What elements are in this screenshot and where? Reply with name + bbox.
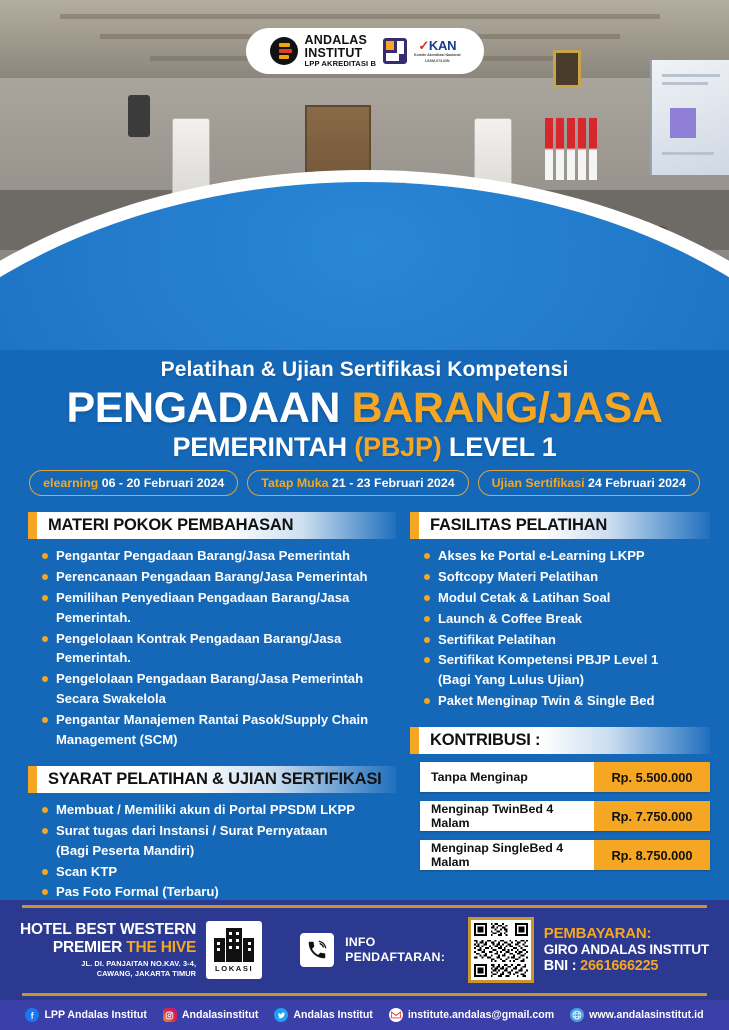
payment-block: PEMBAYARAN: GIRO ANDALAS INSTITUT BNI : … — [468, 917, 709, 983]
info-line-1: INFO — [345, 935, 445, 950]
left-column: MATERI POKOK PEMBAHASAN Pengantar Pengad… — [28, 512, 396, 903]
payment-account-number: 2661666225 — [580, 958, 658, 974]
price-table: Tanpa Menginap Rp. 5.500.000 Menginap Tw… — [410, 762, 710, 870]
materi-heading: MATERI POKOK PEMBAHASAN — [48, 516, 293, 535]
list-item: Sertifikat Kompetensi PBJP Level 1(Bagi … — [424, 650, 710, 690]
price-amount: Rp. 7.750.000 — [594, 801, 710, 831]
facebook-icon — [25, 1008, 39, 1022]
title-sub-before: PEMERINTAH — [172, 432, 347, 462]
hotel-name-line1: HOTEL BEST WESTERN — [20, 921, 196, 938]
projector-screen — [650, 60, 729, 175]
list-item: Pengantar Manajemen Rantai Pasok/Supply … — [42, 710, 396, 750]
list-item: Akses ke Portal e-Learning LKPP — [424, 546, 710, 566]
accent-bar — [28, 766, 37, 793]
speaker — [128, 95, 150, 137]
list-item: Scan KTP — [42, 862, 396, 882]
date-label: Ujian Sertifikasi — [492, 476, 585, 490]
social-website[interactable]: www.andalasinstitut.id — [570, 1008, 703, 1022]
social-label: Andalasinstitut — [182, 1009, 259, 1021]
date-badge-tatap-muka: Tatap Muka 21 - 23 Februari 2024 — [247, 470, 468, 496]
title-main-white: PENGADAAN — [66, 384, 340, 432]
instagram-icon — [163, 1008, 177, 1022]
list-item: Launch & Coffee Break — [424, 609, 710, 629]
footer: HOTEL BEST WESTERN PREMIER THE HIVE JL. … — [0, 900, 729, 1000]
info-line-2: PENDAFTARAN: — [345, 950, 445, 965]
list-item: Perencanaan Pengadaan Barang/Jasa Pemeri… — [42, 567, 396, 587]
title-eyebrow: Pelatihan & Ujian Sertifikasi Kompetensi — [0, 358, 729, 382]
date-badge-elearning: elearning 06 - 20 Februari 2024 — [29, 470, 238, 496]
venue-block: HOTEL BEST WESTERN PREMIER THE HIVE JL. … — [20, 921, 262, 979]
lokasi-caption: LOKASI — [215, 964, 253, 973]
price-label: Menginap SingleBed 4 Malam — [420, 840, 594, 870]
globe-icon — [570, 1008, 584, 1022]
table-row: Menginap SingleBed 4 Malam Rp. 8.750.000 — [420, 840, 710, 870]
accent-bar — [28, 512, 37, 539]
brand-accreditation: LPP AKREDITASI B — [305, 60, 377, 68]
info-registration-block: INFO PENDAFTARAN: — [300, 933, 445, 967]
list-item: Modul Cetak & Latihan Soal — [424, 588, 710, 608]
date-value: 21 - 23 Februari 2024 — [332, 476, 455, 490]
poster-title: Pelatihan & Ujian Sertifikasi Kompetensi… — [0, 358, 729, 463]
twitter-icon — [274, 1008, 288, 1022]
syarat-heading: SYARAT PELATIHAN & UJIAN SERTIFIKASI — [48, 770, 382, 789]
title-sub-after: LEVEL 1 — [449, 432, 557, 462]
poster: ANDALAS INSTITUT LPP AKREDITASI B ✓KAN K… — [0, 0, 729, 1030]
wall-portrait — [553, 50, 581, 88]
section-header-kontribusi: KONTRIBUSI : — [410, 727, 710, 754]
hotel-name-highlight: THE HIVE — [126, 939, 196, 956]
section-header-materi: MATERI POKOK PEMBAHASAN — [28, 512, 396, 539]
social-twitter[interactable]: Andalas Institut — [274, 1008, 372, 1022]
iso-certification-icon — [383, 38, 407, 64]
kan-code: LSSM-073-IDN — [414, 59, 460, 63]
brand-line-1: ANDALAS — [305, 34, 377, 47]
price-label: Menginap TwinBed 4 Malam — [420, 801, 594, 831]
ceiling-beam — [60, 14, 660, 19]
list-item: Membuat / Memiliki akun di Portal PPSDM … — [42, 800, 396, 820]
right-column: FASILITAS PELATIHAN Akses ke Portal e-Le… — [410, 512, 710, 879]
social-instagram[interactable]: Andalasinstitut — [163, 1008, 259, 1022]
social-label: www.andalasinstitut.id — [589, 1009, 703, 1021]
price-amount: Rp. 8.750.000 — [594, 840, 710, 870]
andalas-logo-icon — [270, 37, 298, 65]
list-item: Pengelolaan Kontrak Pengadaan Barang/Jas… — [42, 629, 396, 669]
date-label: Tatap Muka — [261, 476, 328, 490]
price-amount: Rp. 5.500.000 — [594, 762, 710, 792]
list-item: Pengelolaan Pengadaan Barang/Jasa Pemeri… — [42, 669, 396, 709]
social-label: institute.andalas@gmail.com — [408, 1009, 554, 1021]
price-label: Tanpa Menginap — [420, 762, 594, 792]
table-row: Tanpa Menginap Rp. 5.500.000 — [420, 762, 710, 792]
kontribusi-heading: KONTRIBUSI : — [430, 731, 540, 750]
title-main-amber: BARANG/JASA — [352, 384, 663, 432]
list-item: Surat tugas dari Instansi / Surat Pernya… — [42, 821, 396, 861]
social-label: LPP Andalas Institut — [44, 1009, 146, 1021]
phone-icon — [300, 933, 334, 967]
fasilitas-heading: FASILITAS PELATIHAN — [430, 516, 607, 535]
social-email[interactable]: institute.andalas@gmail.com — [389, 1008, 554, 1022]
social-label: Andalas Institut — [293, 1009, 372, 1021]
brand-line-2: INSTITUT — [305, 47, 377, 60]
list-item: Pemilihan Penyediaan Pengadaan Barang/Ja… — [42, 588, 396, 628]
social-facebook[interactable]: LPP Andalas Institut — [25, 1008, 146, 1022]
kan-label: KAN — [429, 38, 456, 53]
andalas-wordmark: ANDALAS INSTITUT LPP AKREDITASI B — [305, 34, 377, 68]
table-row: Menginap TwinBed 4 Malam Rp. 7.750.000 — [420, 801, 710, 831]
list-item: Softcopy Materi Pelatihan — [424, 567, 710, 587]
date-badge-ujian: Ujian Sertifikasi 24 Februari 2024 — [478, 470, 700, 496]
date-value: 24 Februari 2024 — [588, 476, 686, 490]
kan-accreditation-icon: ✓KAN Komite Akreditasi Nasional LSSM-073… — [414, 39, 460, 63]
hotel-name-line2: PREMIER — [53, 939, 122, 956]
qr-code[interactable] — [468, 917, 534, 983]
date-value: 06 - 20 Februari 2024 — [102, 476, 225, 490]
flag-row — [545, 118, 595, 183]
section-header-syarat: SYARAT PELATIHAN & UJIAN SERTIFIKASI — [28, 766, 396, 793]
title-main: PENGADAAN BARANG/JASA — [0, 385, 729, 431]
list-item: Paket Menginap Twin & Single Bed — [424, 691, 710, 711]
accent-bar — [410, 727, 419, 754]
social-bar: LPP Andalas Institut Andalasinstitut And… — [0, 1000, 729, 1030]
syarat-list: Membuat / Memiliki akun di Portal PPSDM … — [28, 800, 396, 902]
logo-banner: ANDALAS INSTITUT LPP AKREDITASI B ✓KAN K… — [246, 28, 484, 74]
fasilitas-list: Akses ke Portal e-Learning LKPP Softcopy… — [410, 546, 710, 711]
payment-account-name: GIRO ANDALAS INSTITUT — [544, 942, 709, 958]
date-label: elearning — [43, 476, 98, 490]
hotel-address-line2: CAWANG, JAKARTA TIMUR — [20, 969, 196, 979]
materi-list: Pengantar Pengadaan Barang/Jasa Pemerint… — [28, 546, 396, 750]
building-icon — [214, 928, 254, 962]
list-item: Pengantar Pengadaan Barang/Jasa Pemerint… — [42, 546, 396, 566]
kan-sub: Komite Akreditasi Nasional — [414, 53, 460, 57]
title-sub: PEMERINTAH (PBJP) LEVEL 1 — [0, 432, 729, 463]
hotel-address-line1: JL. DI. PANJAITAN NO.KAV. 3-4, — [20, 959, 196, 969]
gmail-icon — [389, 1008, 403, 1022]
payment-heading: PEMBAYARAN: — [544, 925, 709, 943]
section-header-fasilitas: FASILITAS PELATIHAN — [410, 512, 710, 539]
lokasi-badge: LOKASI — [206, 921, 262, 979]
accent-bar — [410, 512, 419, 539]
date-badges: elearning 06 - 20 Februari 2024 Tatap Mu… — [0, 470, 729, 496]
list-item: Sertifikat Pelatihan — [424, 630, 710, 650]
payment-bank-label: BNI : — [544, 958, 580, 974]
title-sub-amber: (PBJP) — [354, 432, 441, 462]
